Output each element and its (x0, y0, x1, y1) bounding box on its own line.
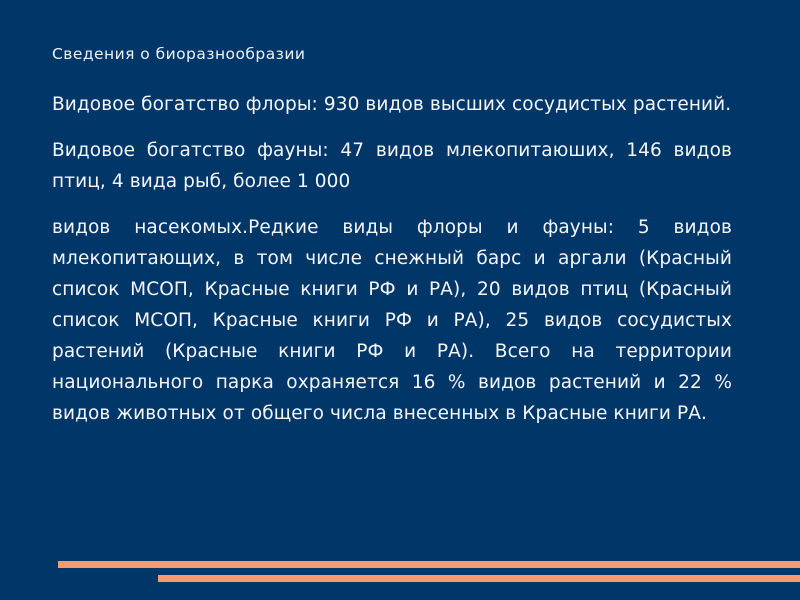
accent-rule-lower (158, 575, 800, 582)
slide-title: Сведения о биоразнообразии (52, 44, 732, 65)
paragraph-flora: Видовое богатство флоры: 930 видов высши… (52, 89, 732, 120)
presentation-slide: Сведения о биоразнообразии Видовое богат… (0, 0, 800, 600)
slide-content: Сведения о биоразнообразии Видовое богат… (52, 44, 732, 429)
paragraph-rare-species: видов насекомых.Редкие виды флоры и фаун… (52, 212, 732, 429)
paragraph-fauna: Видовое богатство фауны: 47 видов млекоп… (52, 135, 732, 197)
accent-rule-upper (58, 561, 800, 568)
